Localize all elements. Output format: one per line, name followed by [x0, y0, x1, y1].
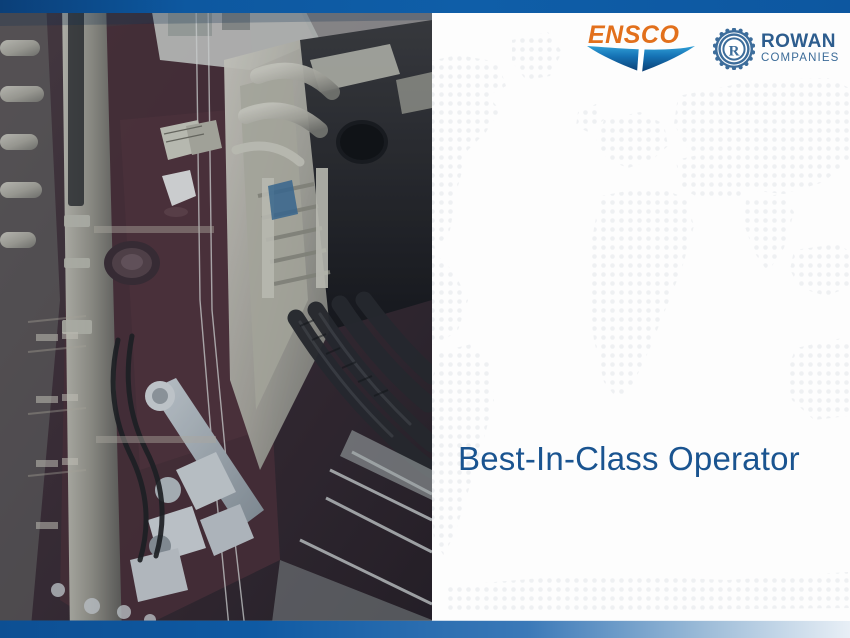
bottom-accent-bar: [0, 621, 850, 638]
presentation-slide: ENSCO: [0, 0, 850, 638]
top-accent-bar: [0, 0, 850, 13]
right-content-panel: [428, 0, 850, 638]
rowan-logo: R ROWAN COMPANIES: [713, 26, 843, 72]
rig-deck-photo: [0, 0, 432, 638]
rowan-subtitle: COMPANIES: [761, 52, 840, 65]
ensco-logo: ENSCO: [585, 22, 697, 76]
world-map-dot-pattern: [428, 0, 850, 638]
svg-text:R: R: [729, 43, 740, 59]
rowan-seal-icon: R: [713, 28, 755, 70]
rowan-text-block: ROWAN COMPANIES: [761, 32, 840, 65]
ensco-swoosh-icon: [585, 44, 697, 74]
logo-row: ENSCO: [585, 22, 845, 78]
page-title: Best-In-Class Operator: [458, 440, 800, 478]
rowan-name: ROWAN: [761, 32, 840, 52]
